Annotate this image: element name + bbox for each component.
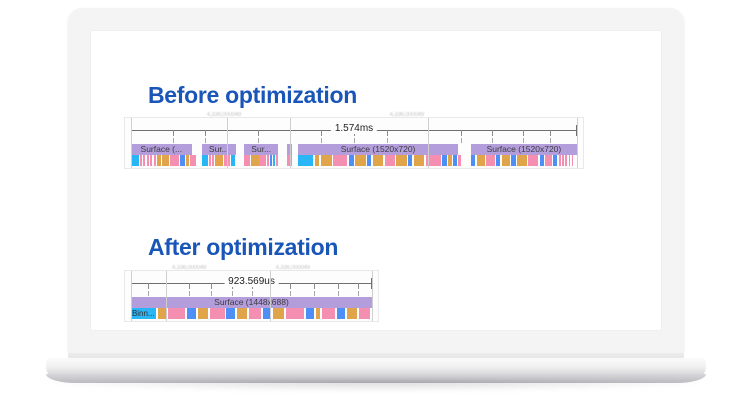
frame-block[interactable]	[251, 155, 259, 166]
trace-duration-label: 923.569us	[224, 276, 279, 287]
frame-block[interactable]	[496, 155, 500, 166]
ruler-guide-line	[227, 118, 228, 168]
frame-block[interactable]	[212, 155, 214, 166]
trace-panel-after[interactable]: 4,336,0000494,336,000049923.569us Surfac…	[125, 271, 378, 321]
frame-block[interactable]	[486, 155, 494, 166]
ruler-timestamp-label: 4,336,000049	[207, 112, 241, 118]
frame-block[interactable]	[471, 155, 475, 166]
ruler-minor-tick	[321, 130, 322, 136]
frame-block[interactable]	[306, 308, 314, 319]
frame-block[interactable]	[190, 155, 193, 166]
frame-block[interactable]	[210, 308, 224, 319]
ruler-sub-tick	[148, 291, 149, 296]
ruler-guide-line	[270, 271, 271, 321]
frame-block[interactable]	[154, 155, 156, 166]
frame-block[interactable]	[202, 155, 208, 166]
frame-block[interactable]	[170, 155, 176, 166]
frame-block[interactable]	[143, 155, 145, 166]
ruler-sub-tick	[211, 291, 212, 296]
ruler-sub-tick	[314, 291, 315, 296]
ruler-sub-tick	[387, 138, 388, 143]
surface-bar[interactable]: Surface (1520x720)	[471, 144, 577, 155]
ruler-sub-tick	[338, 291, 339, 296]
frame-block[interactable]	[553, 155, 557, 166]
frame-block[interactable]	[259, 155, 265, 166]
frame-block[interactable]	[150, 155, 152, 166]
trace-rows-after: Surface (1448x688)Binn...	[131, 297, 372, 319]
frame-block[interactable]	[442, 155, 446, 166]
frame-block[interactable]	[187, 308, 195, 319]
frame-block[interactable]	[132, 155, 139, 166]
ruler-sub-tick	[252, 291, 253, 296]
ruler-guide-line	[131, 118, 132, 168]
surface-bar[interactable]: Sur...	[202, 144, 236, 155]
ruler-minor-tick	[148, 283, 149, 289]
ruler-minor-tick	[461, 130, 462, 136]
ruler-minor-tick	[387, 130, 388, 136]
section-title-after: After optimization	[148, 234, 338, 261]
ruler-sub-tick	[461, 138, 462, 143]
ruler-guide-line	[372, 271, 373, 321]
section-title-before: Before optimization	[148, 82, 357, 109]
trace-ruler-before: 4,336,0000494,336,0000491.574ms	[125, 121, 583, 141]
ruler-minor-tick	[258, 130, 259, 136]
frame-block[interactable]	[349, 155, 353, 166]
frame-block[interactable]	[333, 155, 347, 166]
ruler-sub-tick	[258, 138, 259, 143]
frame-block[interactable]	[414, 155, 425, 166]
frame-block[interactable]	[298, 155, 313, 166]
frame-block[interactable]	[176, 155, 178, 166]
frame-block[interactable]	[517, 155, 527, 166]
ruler-sub-tick	[189, 291, 190, 296]
surface-bar[interactable]: Surface (...	[131, 144, 192, 155]
frame-block[interactable]	[147, 155, 149, 166]
frame-block[interactable]	[337, 308, 345, 319]
frame-block[interactable]	[158, 308, 166, 319]
ruler-minor-tick	[523, 130, 524, 136]
frame-block[interactable]	[569, 155, 571, 166]
frame-block[interactable]	[322, 308, 335, 319]
frame-block[interactable]: Binn...	[131, 308, 156, 319]
frame-block[interactable]	[347, 308, 357, 319]
frame-block[interactable]	[545, 155, 552, 166]
frame-block[interactable]	[249, 308, 261, 319]
ruler-minor-tick	[205, 130, 206, 136]
ruler-sub-tick	[205, 138, 206, 143]
frame-block[interactable]	[276, 155, 278, 166]
frame-block[interactable]	[502, 155, 510, 166]
ruler-sub-tick	[523, 138, 524, 143]
ruler-minor-tick	[338, 283, 339, 289]
ruler-sub-tick	[290, 291, 291, 296]
frame-block[interactable]	[477, 155, 485, 166]
frame-block[interactable]	[273, 308, 284, 319]
frame-block[interactable]	[286, 308, 304, 319]
frame-strip	[131, 155, 577, 166]
frame-block[interactable]	[572, 155, 574, 166]
frame-block[interactable]	[453, 155, 457, 166]
frame-block[interactable]	[168, 308, 185, 319]
frame-block[interactable]	[565, 155, 567, 166]
frame-block[interactable]	[559, 155, 561, 166]
trace-rows-before: Surface (...Sur...Sur...Surface (1520x72…	[131, 144, 577, 166]
trace-ruler-after: 4,336,0000494,336,000049923.569us	[125, 274, 378, 294]
frame-block[interactable]	[321, 155, 332, 166]
ruler-sub-tick	[550, 138, 551, 143]
frame-block[interactable]	[448, 155, 452, 166]
frame-block[interactable]	[562, 155, 564, 166]
frame-block[interactable]	[273, 155, 275, 166]
frame-block[interactable]	[367, 155, 371, 166]
ruler-sub-tick	[321, 138, 322, 143]
frame-block[interactable]	[180, 155, 185, 166]
frame-block[interactable]	[396, 155, 407, 166]
surface-bar[interactable]: Surface (1520x720)	[298, 144, 459, 155]
ruler-guide-line	[577, 118, 578, 168]
frame-block[interactable]	[385, 155, 395, 166]
laptop-drop-shadow	[30, 380, 722, 392]
frame-block[interactable]	[140, 155, 142, 166]
frame-block[interactable]	[215, 155, 223, 166]
ruler-minor-tick	[173, 130, 174, 136]
frame-block[interactable]	[316, 308, 320, 319]
frame-block[interactable]	[267, 155, 269, 166]
ruler-guide-line	[131, 271, 132, 321]
ruler-timestamp-label: 4,336,000049	[276, 265, 310, 271]
frame-block[interactable]	[226, 308, 234, 319]
ruler-timestamp-label: 4,336,000049	[390, 112, 424, 118]
frame-strip: Binn...	[131, 308, 372, 319]
frame-block[interactable]	[162, 155, 169, 166]
screen-content: Before optimization 4,336,0000494,336,00…	[90, 30, 662, 331]
frame-block[interactable]	[270, 155, 273, 166]
frame-block[interactable]	[373, 155, 384, 166]
frame-block[interactable]	[198, 308, 209, 319]
ruler-sub-tick	[358, 291, 359, 296]
frame-block[interactable]	[315, 155, 319, 166]
frame-block[interactable]	[186, 155, 189, 166]
frame-block[interactable]	[231, 155, 235, 166]
ruler-minor-tick	[314, 283, 315, 289]
ruler-minor-tick	[492, 130, 493, 136]
ruler-timestamp-label: 4,336,000049	[172, 265, 206, 271]
ruler-sub-tick	[173, 138, 174, 143]
ruler-minor-tick	[358, 283, 359, 289]
surface-bar[interactable]: Surface (1448x688)	[131, 297, 372, 308]
frame-block[interactable]	[355, 155, 366, 166]
surface-bar[interactable]: Sur...	[244, 144, 278, 155]
ruler-sub-tick	[354, 138, 355, 143]
frame-block[interactable]	[157, 155, 161, 166]
frame-block[interactable]	[540, 155, 544, 166]
ruler-minor-tick	[290, 283, 291, 289]
frame-block[interactable]	[193, 155, 195, 166]
ruler-sub-tick	[232, 291, 233, 296]
trace-panel-before[interactable]: 4,336,0000494,336,0000491.574ms Surface …	[125, 118, 583, 168]
frame-block[interactable]	[359, 308, 370, 319]
ruler-guide-line	[428, 118, 429, 168]
frame-block[interactable]	[237, 308, 248, 319]
trace-duration-label: 1.574ms	[331, 123, 377, 134]
ruler-minor-tick	[211, 283, 212, 289]
frame-block[interactable]	[247, 155, 249, 166]
frame-block[interactable]	[458, 155, 461, 166]
frame-block[interactable]	[511, 155, 515, 166]
frame-block[interactable]	[244, 155, 246, 166]
frame-block[interactable]	[209, 155, 211, 166]
ruler-minor-tick	[189, 283, 190, 289]
frame-block[interactable]	[408, 155, 412, 166]
ruler-minor-tick	[550, 130, 551, 136]
frame-block[interactable]	[528, 155, 538, 166]
ruler-guide-line	[290, 118, 291, 168]
ruler-sub-tick	[492, 138, 493, 143]
ruler-guide-line	[166, 271, 167, 321]
